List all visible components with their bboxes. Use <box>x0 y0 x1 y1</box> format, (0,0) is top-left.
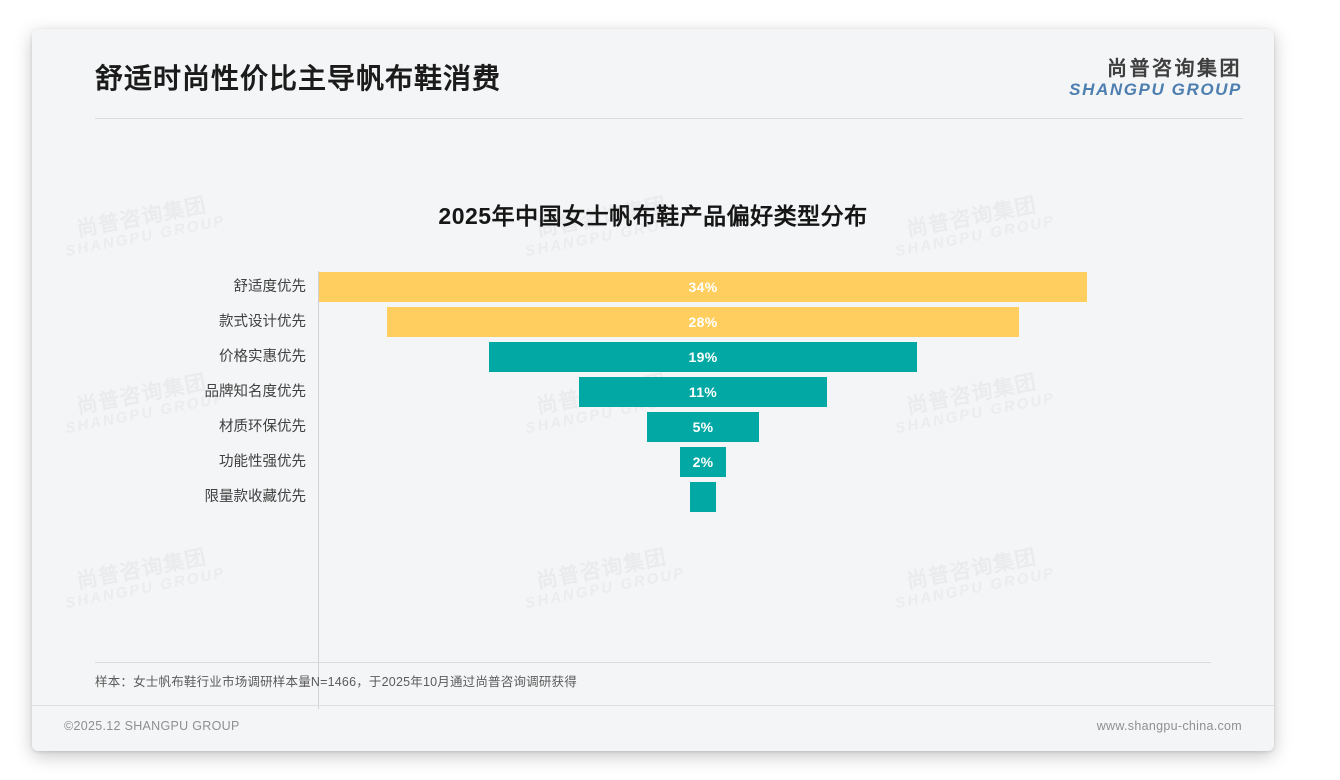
website-link[interactable]: www.shangpu-china.com <box>1097 719 1242 733</box>
header-divider <box>95 118 1243 119</box>
bar-row: 限量款收藏优先 <box>32 482 1274 512</box>
bar-category-label: 限量款收藏优先 <box>32 482 306 512</box>
brand-logo: 尚普咨询集团 SHANGPU GROUP <box>1069 59 1242 99</box>
bar-row: 舒适度优先34% <box>32 272 1274 302</box>
bar-row: 功能性强优先2% <box>32 447 1274 477</box>
bar-segment[interactable]: 19% <box>489 342 918 372</box>
slide-header: 舒适时尚性价比主导帆布鞋消费 尚普咨询集团 SHANGPU GROUP <box>32 29 1274 121</box>
brand-logo-cn: 尚普咨询集团 <box>1069 59 1242 80</box>
footnote-divider <box>95 662 1211 663</box>
footnote-block: 样本：女士帆布鞋行业市场调研样本量N=1466，于2025年10月通过尚普咨询调… <box>95 662 1211 690</box>
bar-segment[interactable]: 11% <box>579 377 827 407</box>
bar-segment[interactable]: 34% <box>319 272 1087 302</box>
chart-area: 2025年中国女士帆布鞋产品偏好类型分布 舒适度优先34%款式设计优先28%价格… <box>32 121 1274 751</box>
bar-segment[interactable] <box>690 482 716 512</box>
bar-row: 款式设计优先28% <box>32 307 1274 337</box>
bar-category-label: 价格实惠优先 <box>32 342 306 372</box>
bar-category-label: 品牌知名度优先 <box>32 377 306 407</box>
bar-category-label: 款式设计优先 <box>32 307 306 337</box>
copyright-text: ©2025.12 SHANGPU GROUP <box>64 719 240 733</box>
bar-segment[interactable]: 5% <box>647 412 760 442</box>
bar-segment[interactable]: 2% <box>680 447 725 477</box>
page-title: 舒适时尚性价比主导帆布鞋消费 <box>95 57 501 97</box>
bar-row: 价格实惠优先19% <box>32 342 1274 372</box>
bar-segment[interactable]: 28% <box>387 307 1019 337</box>
slide-footer: ©2025.12 SHANGPU GROUP www.shangpu-china… <box>32 705 1274 751</box>
brand-logo-en: SHANGPU GROUP <box>1069 81 1242 99</box>
bar-row: 品牌知名度优先11% <box>32 377 1274 407</box>
sample-footnote: 样本：女士帆布鞋行业市场调研样本量N=1466，于2025年10月通过尚普咨询调… <box>95 671 1211 690</box>
bar-chart-plot: 舒适度优先34%款式设计优先28%价格实惠优先19%品牌知名度优先11%材质环保… <box>32 121 1274 751</box>
bar-category-label: 材质环保优先 <box>32 412 306 442</box>
bar-category-label: 舒适度优先 <box>32 272 306 302</box>
bar-category-label: 功能性强优先 <box>32 447 306 477</box>
slide-panel: 尚普咨询集团SHANGPU GROUP尚普咨询集团SHANGPU GROUP尚普… <box>32 29 1274 751</box>
bar-row: 材质环保优先5% <box>32 412 1274 442</box>
